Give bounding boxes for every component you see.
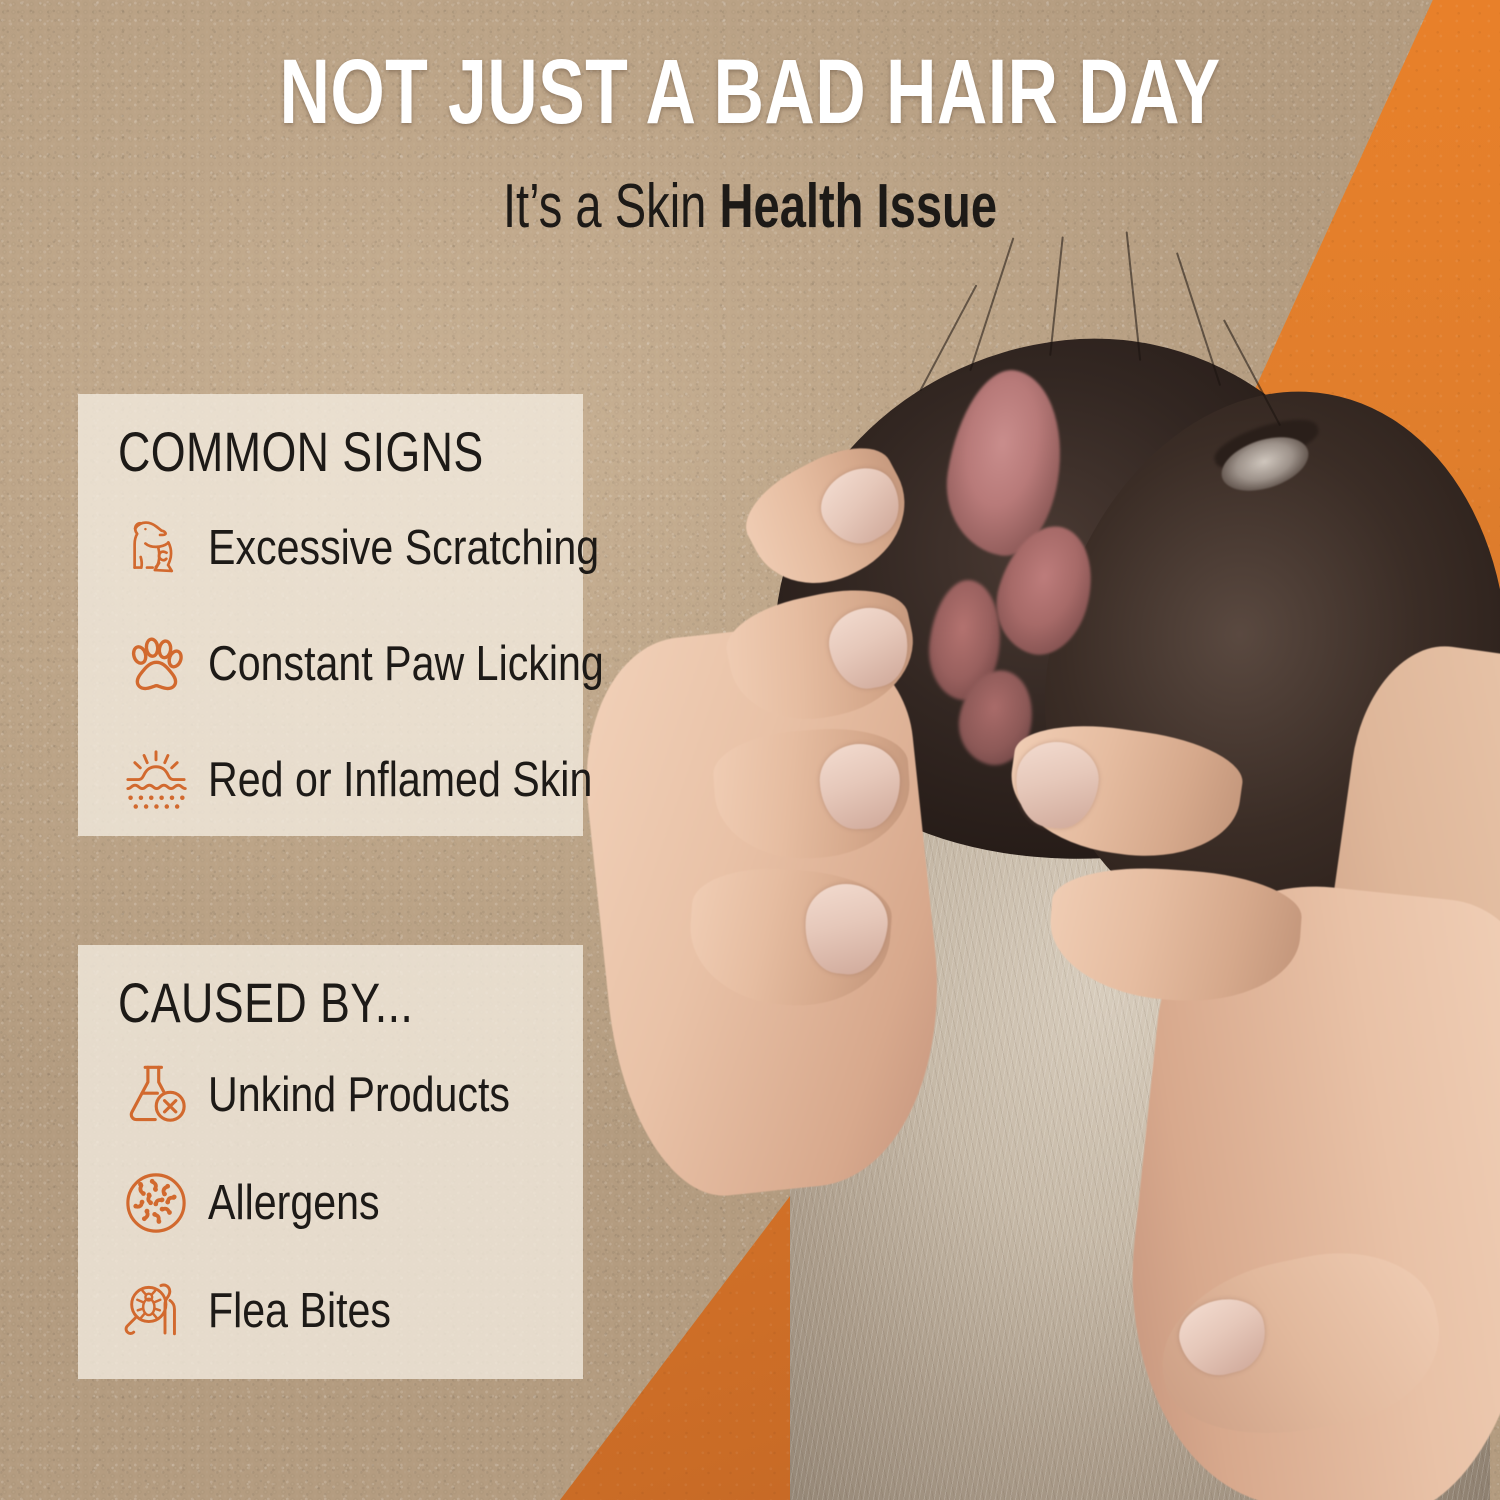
card-caused-by-title: CAUSED BY... [118, 975, 463, 1031]
common-signs-list: Excessive Scratching Constant Paw Lickin… [118, 492, 549, 836]
allergen-microbes-icon [118, 1165, 194, 1241]
caused-by-list: Unkind Products [118, 1043, 549, 1363]
list-item-label: Excessive Scratching [208, 524, 599, 573]
dog-skin-photo [620, 330, 1500, 1500]
subtitle-bold-part: Health Issue [719, 172, 997, 241]
card-caused-by: CAUSED BY... Unkind Products [78, 945, 583, 1379]
subtitle-light-part: It’s a Skin [503, 172, 720, 241]
list-item[interactable]: Constant Paw Licking [118, 608, 549, 720]
page-subtitle: It’s a Skin Health Issue [180, 176, 1320, 238]
infographic-poster: NOT JUST A BAD HAIR DAY It’s a Skin Heal… [0, 0, 1500, 1500]
card-common-signs-title: COMMON SIGNS [118, 424, 463, 480]
card-common-signs: COMMON SIGNS [78, 394, 583, 836]
list-item[interactable]: Unkind Products [118, 1043, 549, 1147]
list-item[interactable]: Allergens [118, 1151, 549, 1255]
list-item-label: Allergens [208, 1179, 380, 1228]
list-item-label: Unkind Products [208, 1071, 510, 1120]
list-item[interactable]: Flea Bites [118, 1259, 549, 1363]
list-item-label: Flea Bites [208, 1287, 391, 1336]
list-item[interactable]: Excessive Scratching [118, 492, 549, 604]
list-item[interactable]: Red or Inflamed Skin [118, 724, 549, 836]
flask-no-entry-icon [118, 1057, 194, 1133]
paw-print-icon [118, 626, 194, 702]
list-item-label: Red or Inflamed Skin [208, 756, 592, 805]
flea-magnifier-icon [118, 1273, 194, 1349]
inflamed-skin-icon [118, 742, 194, 818]
page-title: NOT JUST A BAD HAIR DAY [180, 46, 1320, 138]
list-item-label: Constant Paw Licking [208, 640, 604, 689]
dog-scratching-icon [118, 510, 194, 586]
